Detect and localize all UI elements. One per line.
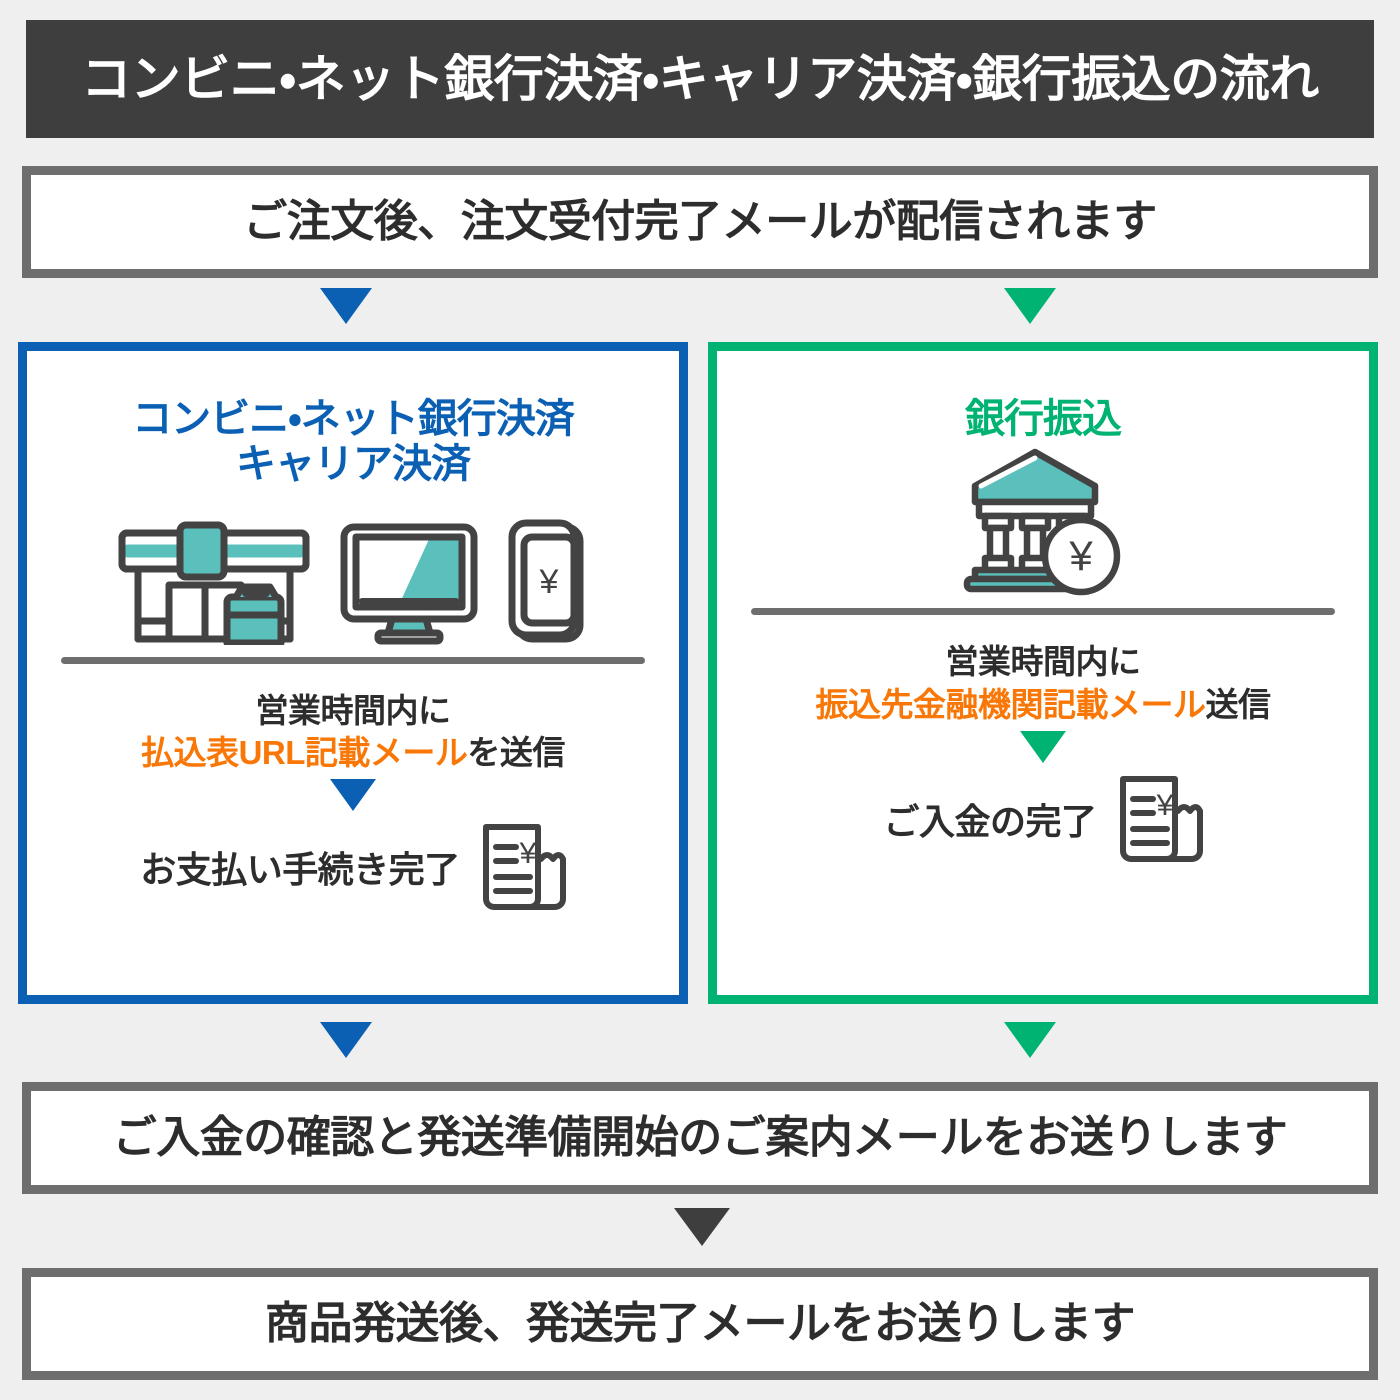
convenience-note: 営業時間内に 払込表URL記載メールを送信	[141, 690, 565, 776]
receipt-yen-icon: ¥	[1111, 771, 1203, 867]
method-title-bank: 銀行振込	[965, 397, 1121, 442]
panel-divider-convenience	[61, 657, 645, 664]
bank-note-highlight: 振込先金融機関記載メール	[816, 686, 1206, 723]
diagram-title-bar: コンビニ・ネット銀行決済・キャリア決済・銀行振込の流れ	[26, 20, 1374, 138]
bank-note: 営業時間内に 振込先金融機関記載メール送信	[816, 641, 1271, 727]
desktop-monitor-icon	[338, 519, 480, 645]
convenience-note-highlight: 払込表URL記載メール	[141, 734, 467, 771]
step-payment-confirmed: ご入金の確認と発送準備開始のご案内メールをお送りします	[22, 1082, 1378, 1194]
convenience-note-suffix: を送信	[467, 734, 565, 771]
page-title: コンビニ・ネット銀行決済・キャリア決済・銀行振込の流れ	[81, 54, 1319, 104]
method-title-bank-line1: 銀行振込	[965, 397, 1121, 441]
method-title-convenience: コンビニ・ネット銀行決済キャリア決済	[132, 397, 574, 487]
method-title-convenience-line1: コンビニ・ネット銀行決済	[132, 397, 574, 441]
payment-flow-diagram: コンビニ・ネット銀行決済・キャリア決済・銀行振込の流れ ご注文後、注文受付完了メ…	[0, 0, 1400, 1400]
svg-text:¥: ¥	[539, 563, 559, 601]
method-panel-convenience: コンビニ・ネット銀行決済キャリア決済	[18, 342, 688, 1004]
step-shipped-label: 商品発送後、発送完了メールをお送りします	[265, 1302, 1135, 1346]
convenience-completion-label: お支払い手続き完了	[140, 841, 460, 893]
arrow-down-blue-to-confirm	[320, 1022, 372, 1058]
bank-completion-row: ご入金の完了 ¥	[883, 771, 1202, 867]
convenience-icon-row: ¥	[116, 505, 590, 645]
arrow-down-green-to-confirm	[1004, 1022, 1056, 1058]
step-shipped: 商品発送後、発送完了メールをお送りします	[22, 1268, 1378, 1380]
receipt-yen-icon: ¥	[474, 819, 566, 915]
arrow-down-green-inner-bank	[1020, 731, 1066, 763]
convenience-note-line1: 営業時間内に	[255, 692, 450, 729]
step-order-received-label: ご注文後、注文受付完了メールが配信されます	[243, 200, 1157, 244]
arrow-down-dark-to-shipped	[674, 1208, 730, 1246]
panel-divider-bank	[751, 608, 1335, 615]
bank-note-suffix: 送信	[1206, 686, 1271, 723]
method-title-convenience-line2: キャリア決済	[236, 442, 470, 486]
method-panel-bank-transfer: 銀行振込	[708, 342, 1378, 1004]
convenience-store-icon	[116, 519, 312, 645]
smartphone-yen-icon: ¥	[506, 519, 590, 645]
step-order-received: ご注文後、注文受付完了メールが配信されます	[22, 166, 1378, 278]
svg-text:¥: ¥	[518, 837, 536, 870]
bank-icon-row: ¥	[957, 456, 1129, 596]
convenience-completion-row: お支払い手続き完了 ¥	[140, 819, 566, 915]
bank-note-line1: 営業時間内に	[946, 643, 1141, 680]
bank-completion-label: ご入金の完了	[883, 793, 1096, 845]
bank-building-yen-icon: ¥	[957, 446, 1129, 596]
arrow-down-green-to-bank	[1004, 288, 1056, 324]
svg-text:¥: ¥	[1068, 532, 1093, 579]
step-payment-confirmed-label: ご入金の確認と発送準備開始のご案内メールをお送りします	[113, 1116, 1288, 1160]
svg-text:¥: ¥	[1155, 789, 1173, 822]
arrow-down-blue-to-convenience	[320, 288, 372, 324]
arrow-down-blue-inner-convenience	[330, 779, 376, 811]
